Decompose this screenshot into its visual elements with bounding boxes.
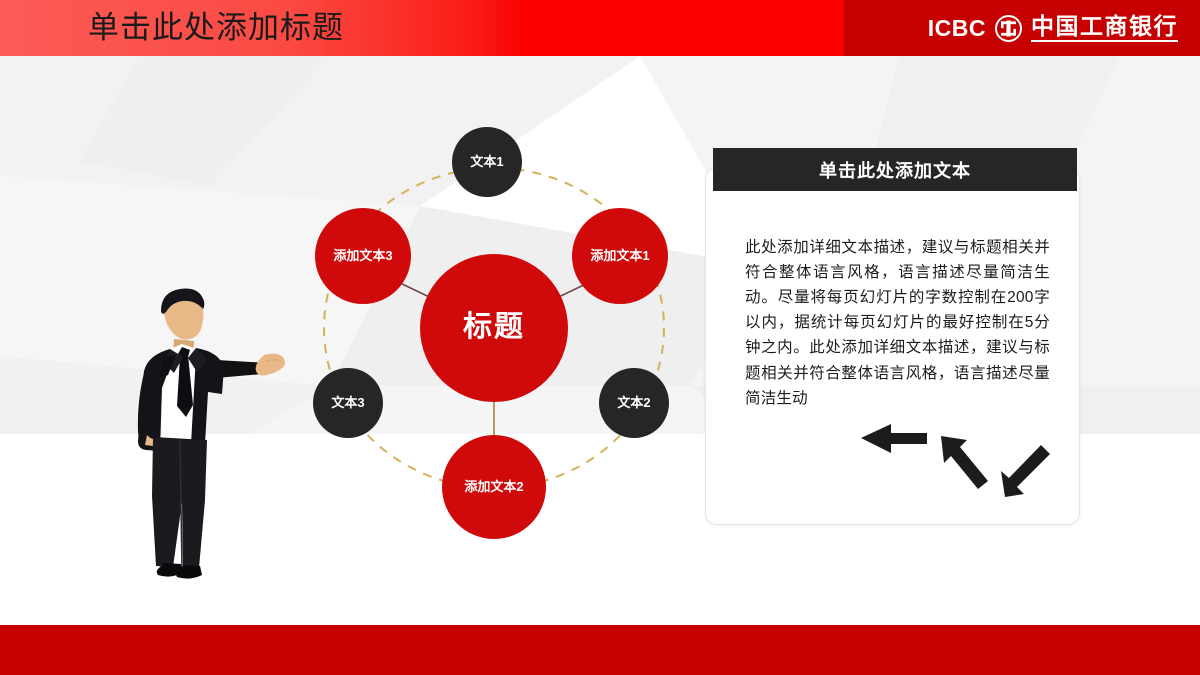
circle-diagram: 文本1 添加文本1 文本2 添加文本2 文本3 添加文本3 标题	[290, 110, 710, 550]
icbc-coin-icon	[995, 15, 1022, 42]
slide-canvas: 单击此处添加标题 ICBC 中国工商银行	[0, 0, 1200, 675]
diagram-node-label: 文本2	[617, 395, 650, 411]
text-card-body: 此处添加详细文本描述，建议与标题相关并符合整体语言风格，语言描述尽量简洁生动。尽…	[745, 235, 1050, 411]
diagram-node-label: 添加文本3	[333, 248, 392, 264]
diagram-node-dark-1[interactable]: 文本1	[452, 127, 522, 197]
diagram-center-node[interactable]: 标题	[420, 254, 568, 402]
text-card-header: 单击此处添加文本	[713, 148, 1077, 191]
arrow-up-left-icon	[941, 436, 988, 489]
diagram-node-red-2[interactable]: 添加文本2	[442, 435, 546, 539]
diagram-node-label: 文本3	[331, 395, 364, 411]
arrow-left-icon	[861, 424, 927, 453]
diagram-node-dark-2[interactable]: 文本2	[599, 368, 669, 438]
diagram-node-red-3[interactable]: 添加文本3	[315, 208, 411, 304]
arrow-down-left-icon	[1001, 445, 1050, 497]
icbc-logo: ICBC 中国工商银行	[928, 0, 1178, 56]
diagram-node-red-1[interactable]: 添加文本1	[572, 208, 668, 304]
diagram-node-label: 文本1	[470, 154, 503, 170]
page-title: 单击此处添加标题	[88, 0, 344, 56]
diagram-node-dark-3[interactable]: 文本3	[313, 368, 383, 438]
text-card-title: 单击此处添加文本	[819, 157, 971, 183]
businessman-presenting-figure	[108, 285, 298, 585]
slide-footer	[0, 625, 1200, 675]
logo-latin-text: ICBC	[928, 15, 986, 42]
diagram-node-label: 添加文本1	[590, 248, 649, 264]
arrow-group	[845, 418, 1060, 513]
slide-header: 单击此处添加标题 ICBC 中国工商银行	[0, 0, 1200, 56]
diagram-node-label: 添加文本2	[464, 479, 523, 495]
logo-chinese-text: 中国工商银行	[1031, 14, 1178, 41]
diagram-center-label: 标题	[463, 310, 525, 345]
